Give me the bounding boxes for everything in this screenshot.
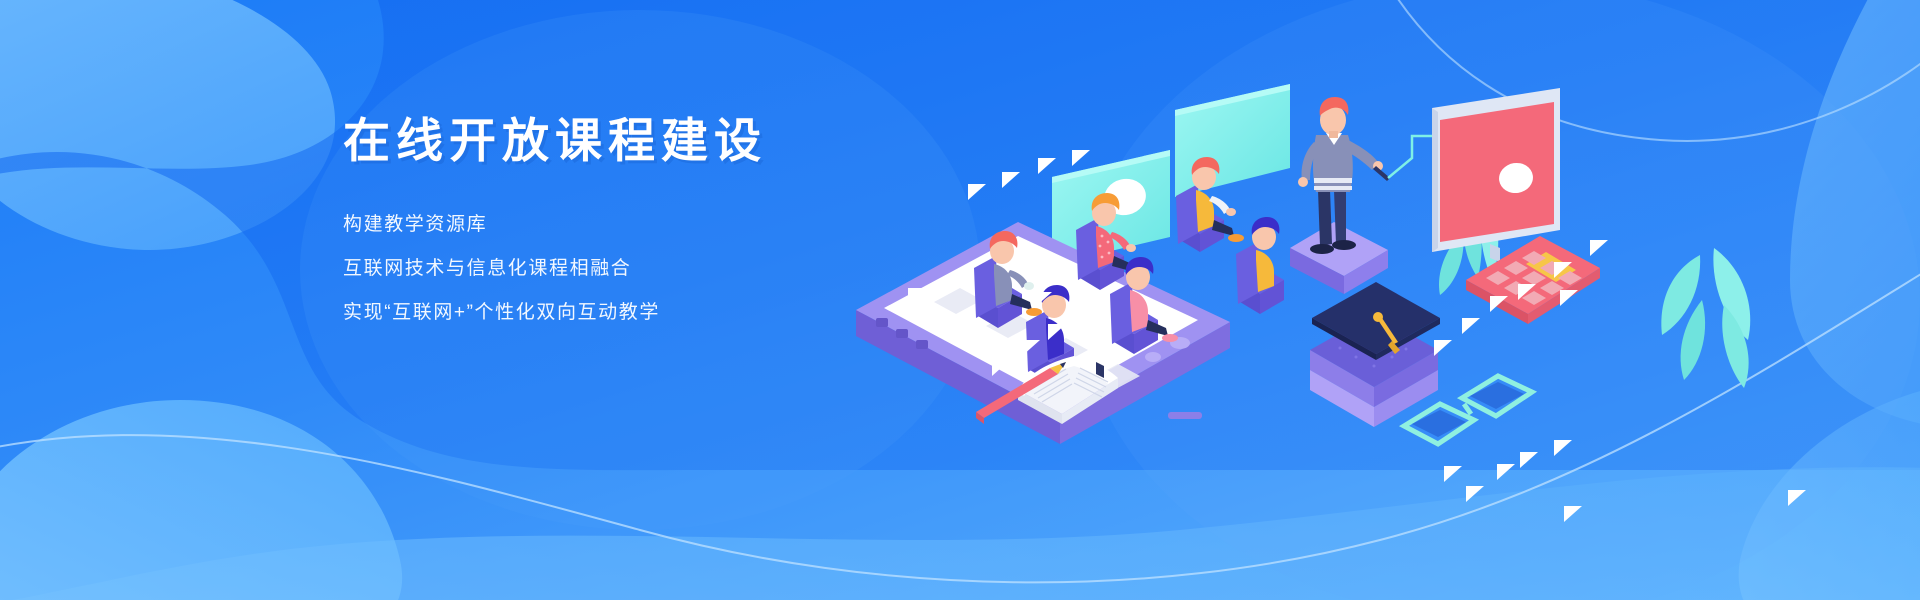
subtitle-line-1: 构建教学资源库 [343,215,903,234]
projection-screen-circle [1052,0,1170,265]
subtitle-line-3: 实现“互联网+”个性化双向互动教学 [343,303,903,322]
isometric-classroom-illustration [0,0,1920,600]
hero-text-block: 在线开放课程建设 构建教学资源库 互联网技术与信息化课程相融合 实现“互联网+”… [343,112,903,322]
hero-banner: 在线开放课程建设 构建教学资源库 互联网技术与信息化课程相融合 实现“互联网+”… [0,0,1920,600]
teacher-figure [1298,97,1390,254]
pointer-beam [1388,136,1432,178]
subtitle-line-2: 互联网技术与信息化课程相融合 [343,259,903,278]
page-title: 在线开放课程建设 [343,112,903,169]
monitor-red-chart [1432,0,1560,262]
student-seat [1236,217,1284,314]
